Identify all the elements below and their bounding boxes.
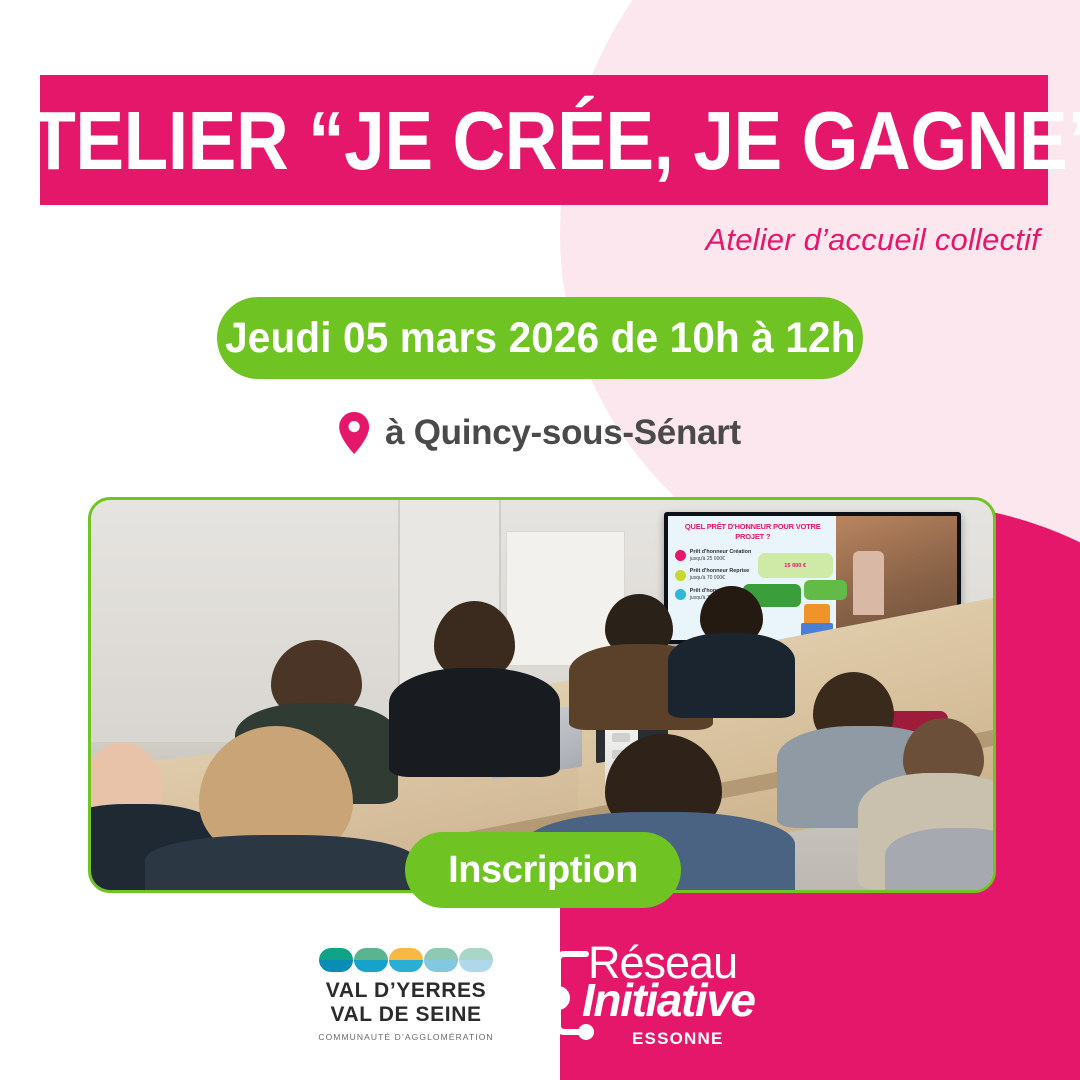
logo-arc bbox=[319, 948, 353, 972]
loan-dot-icon bbox=[675, 550, 686, 561]
logo-reseau-initiative-essonne: Réseau Initiative ESSONNE bbox=[540, 940, 770, 1060]
logo-arc bbox=[389, 948, 423, 972]
poster-canvas: ATELIER “JE CRÉE, JE GAGNE” Atelier d’ac… bbox=[0, 0, 1080, 1080]
photo-person-body bbox=[145, 835, 416, 890]
map-pin-icon bbox=[339, 412, 369, 454]
loan-label: Prêt d'honneur Création bbox=[690, 549, 751, 556]
photo-person-body bbox=[389, 668, 560, 777]
photo-slide-title: QUEL PRÊT D'HONNEUR POUR VOTRE PROJET ? bbox=[675, 522, 831, 542]
logo-val-dyerres-val-de-seine: VAL D’YERRES VAL DE SEINE COMMUNAUTÉ D’A… bbox=[316, 948, 496, 1042]
page-title: ATELIER “JE CRÉE, JE GAGNE” bbox=[0, 99, 1080, 182]
loan-detail: jusqu'à 25 000€ bbox=[690, 556, 725, 562]
loan-dot-icon bbox=[675, 589, 686, 600]
loan-detail: jusqu'à 70 000€ bbox=[690, 575, 725, 581]
logo-line-1: VAL D’YERRES bbox=[316, 979, 496, 1003]
page-subtitle: Atelier d’accueil collectif bbox=[706, 222, 1041, 258]
photo-person-body bbox=[668, 633, 794, 719]
date-pill: Jeudi 05 mars 2026 de 10h à 12h bbox=[217, 297, 863, 379]
loan-dot-icon bbox=[675, 570, 686, 581]
loan-label: Prêt d'honneur Reprise bbox=[690, 568, 749, 575]
date-text: Jeudi 05 mars 2026 de 10h à 12h bbox=[225, 314, 855, 363]
title-banner: ATELIER “JE CRÉE, JE GAGNE” bbox=[40, 75, 1048, 205]
photo-slide-callout-amount: 15 000 € bbox=[784, 563, 806, 569]
logo-line-2: VAL DE SEINE bbox=[316, 1003, 496, 1027]
inscription-button-label: Inscription bbox=[448, 849, 638, 892]
inscription-button[interactable]: Inscription bbox=[405, 832, 681, 908]
logo-arcs-icon bbox=[316, 948, 496, 972]
logo-arc bbox=[354, 948, 388, 972]
photo-slide-row-text: Prêt d'honneur Reprise jusqu'à 70 000€ bbox=[690, 568, 749, 582]
location-row: à Quincy-sous-Sénart bbox=[339, 412, 741, 454]
photo-slide-row-text: Prêt d'honneur Création jusqu'à 25 000€ bbox=[690, 549, 751, 563]
logo-arc bbox=[424, 948, 458, 972]
photo-slide-bubble-mid bbox=[804, 580, 847, 600]
photo-slide-callout: 15 000 € bbox=[758, 553, 833, 578]
location-text: à Quincy-sous-Sénart bbox=[385, 413, 741, 453]
logo-initiative-text: Initiative bbox=[582, 977, 755, 1023]
photo-person-body bbox=[885, 828, 993, 890]
logo-arc bbox=[459, 948, 493, 972]
logo-tagline: COMMUNAUTÉ D’AGGLOMÉRATION bbox=[316, 1032, 496, 1042]
logo-essonne-text: ESSONNE bbox=[632, 1029, 724, 1049]
